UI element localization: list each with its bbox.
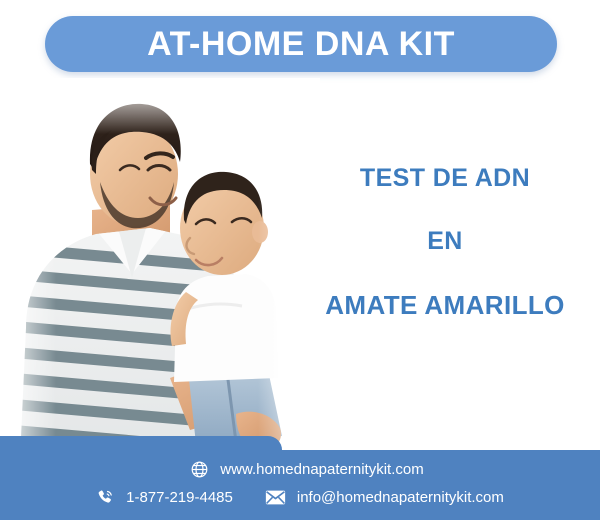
- phone-icon: [96, 488, 115, 507]
- footer-contact-rows: www.homednapaternitykit.com 1-877-219-44…: [0, 436, 600, 520]
- website-item[interactable]: www.homednapaternitykit.com: [190, 460, 423, 479]
- footer-phone-email-row: 1-877-219-4485 info@homednapaternitykit.…: [0, 488, 600, 507]
- hero-photo: [0, 78, 320, 460]
- email-label: info@homednapaternitykit.com: [297, 490, 504, 505]
- footer-bar: www.homednapaternitykit.com 1-877-219-44…: [0, 436, 600, 520]
- page-title: AT-HOME DNA KIT: [147, 27, 455, 61]
- heading-line-2: EN: [300, 229, 590, 254]
- headings-block: TEST DE ADN EN AMATE AMARILLO: [300, 150, 590, 318]
- globe-icon: [190, 460, 209, 479]
- heading-line-3: AMATE AMARILLO: [300, 292, 590, 318]
- father-and-child-illustration: [0, 78, 320, 460]
- poster-root: AT-HOME DNA KIT: [0, 0, 600, 520]
- heading-line-1: TEST DE ADN: [300, 166, 590, 191]
- title-banner: AT-HOME DNA KIT: [45, 16, 557, 72]
- phone-label: 1-877-219-4485: [126, 490, 233, 505]
- website-label: www.homednapaternitykit.com: [220, 462, 423, 477]
- phone-item[interactable]: 1-877-219-4485: [96, 488, 233, 507]
- footer-website-row: www.homednapaternitykit.com: [0, 460, 600, 479]
- email-item[interactable]: info@homednapaternitykit.com: [265, 488, 504, 507]
- envelope-icon: [265, 488, 286, 507]
